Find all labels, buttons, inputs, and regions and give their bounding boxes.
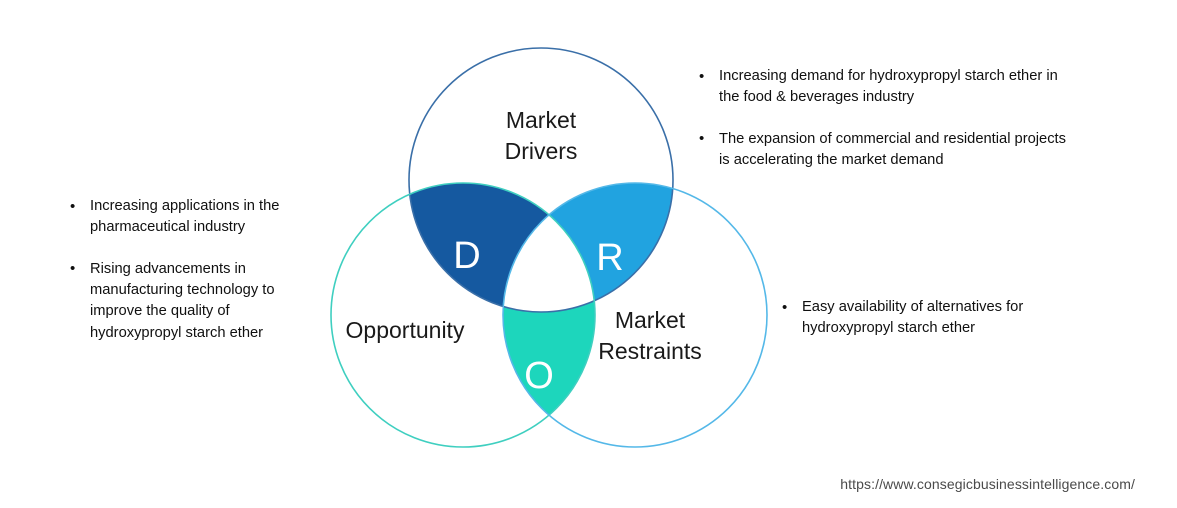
bullet-marker: • <box>699 66 704 88</box>
infographic-page: Market Drivers Opportunity Market Restra… <box>0 0 1177 508</box>
venn-lens-fills <box>331 183 767 447</box>
venn-label-opportunity: Opportunity <box>346 317 465 343</box>
list-item-text: The expansion of commercial and resident… <box>719 131 1066 168</box>
venn-label-drivers-line1: Market <box>506 107 577 133</box>
venn-label-restraints-line1: Market <box>615 307 686 333</box>
bullet-marker: • <box>70 258 75 280</box>
list-item: • Increasing applications in the pharmac… <box>68 196 300 239</box>
bullet-items: • Easy availability of alternatives for … <box>780 297 1110 340</box>
list-item: • The expansion of commercial and reside… <box>697 129 1077 172</box>
bullet-marker: • <box>699 128 704 150</box>
list-item: • Rising advancements in manufacturing t… <box>68 259 300 344</box>
venn-label-drivers-line2: Drivers <box>505 138 578 164</box>
bullet-list-restraints: • Easy availability of alternatives for … <box>780 297 1110 340</box>
list-item-text: Easy availability of alternatives for hy… <box>802 299 1023 336</box>
bullet-list-opportunity: • Increasing applications in the pharmac… <box>68 196 300 344</box>
list-item-text: Increasing demand for hydroxypropyl star… <box>719 68 1058 105</box>
bullet-marker: • <box>782 297 787 319</box>
list-item-text: Increasing applications in the pharmaceu… <box>90 198 279 235</box>
venn-initial-opportunity: O <box>524 355 554 397</box>
venn-label-restraints-line2: Restraints <box>598 338 702 364</box>
venn-initial-drivers: D <box>453 235 480 277</box>
bullet-items: • Increasing applications in the pharmac… <box>68 196 300 344</box>
bullet-marker: • <box>70 196 75 218</box>
list-item: • Easy availability of alternatives for … <box>780 297 1110 340</box>
list-item-text: Rising advancements in manufacturing tec… <box>90 261 275 341</box>
bullet-list-drivers: • Increasing demand for hydroxypropyl st… <box>697 66 1077 171</box>
list-item: • Increasing demand for hydroxypropyl st… <box>697 66 1077 109</box>
bullet-items: • Increasing demand for hydroxypropyl st… <box>697 66 1077 171</box>
source-url[interactable]: https://www.consegicbusinessintelligence… <box>840 476 1135 492</box>
venn-initial-restraints: R <box>596 237 623 279</box>
